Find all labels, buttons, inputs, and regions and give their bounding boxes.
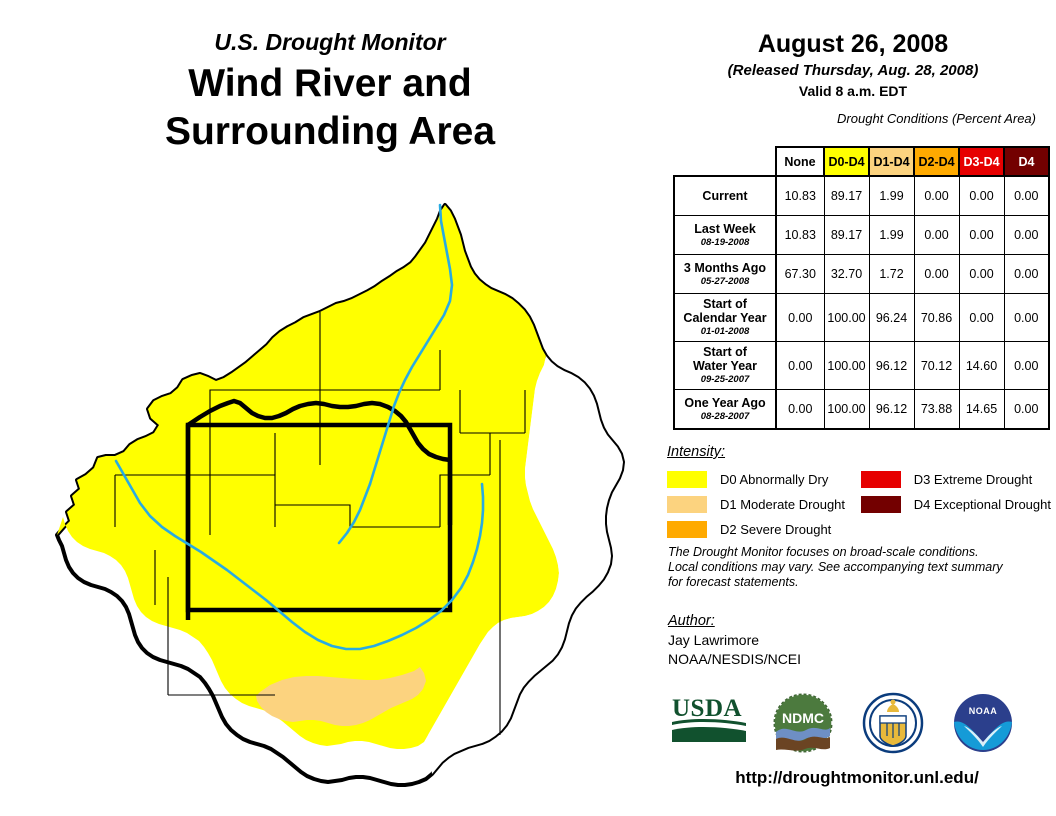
row-name: Current	[677, 189, 773, 203]
cell-d3-d4: 0.00	[959, 294, 1004, 342]
row-label-start-of-calendar-year: Start of Calendar Year 01-01-2008	[674, 294, 776, 342]
cell-d0-d4: 89.17	[824, 216, 869, 255]
intensity-legend-title: Intensity:	[667, 444, 1051, 460]
cell-d1-d4: 96.24	[869, 294, 914, 342]
valid-time: Valid 8 a.m. EDT	[662, 82, 1044, 101]
row-label-current: Current	[674, 176, 776, 216]
column-header-d3-d4: D3-D4	[959, 147, 1004, 176]
row-label-one-year-ago: One Year Ago 08-28-2007	[674, 390, 776, 430]
cell-d1-d4: 1.72	[869, 255, 914, 294]
cell-none: 67.30	[776, 255, 824, 294]
legend-label: D4 Exceptional Drought	[914, 497, 1051, 512]
cell-d0-d4: 89.17	[824, 176, 869, 216]
table-row: Last Week 08-19-2008 10.83 89.17 1.99 0.…	[674, 216, 1049, 255]
legend-label: D0 Abnormally Dry	[720, 472, 828, 487]
legend-item-d1: D1 Moderate Drought	[667, 492, 861, 517]
d4-color-swatch	[861, 496, 901, 513]
website-url[interactable]: http://droughtmonitor.unl.edu/	[662, 768, 1052, 788]
row-name-line1: Start of	[677, 345, 773, 359]
cell-d2-d4: 70.12	[914, 342, 959, 390]
column-header-none: None	[776, 147, 824, 176]
drought-monitor-page: U.S. Drought Monitor Wind River and Surr…	[0, 0, 1056, 816]
program-label: U.S. Drought Monitor	[0, 28, 660, 56]
cell-d4: 0.00	[1004, 255, 1049, 294]
legend-label: D2 Severe Drought	[720, 522, 831, 537]
map-date: August 26, 2008	[662, 30, 1044, 59]
legend-label: D1 Moderate Drought	[720, 497, 845, 512]
row-date: 08-28-2007	[677, 411, 773, 423]
d1-color-swatch	[667, 496, 707, 513]
row-name: 3 Months Ago	[677, 261, 773, 275]
author-affiliation: NOAA/NESDIS/NCEI	[668, 650, 968, 669]
table-corner-blank	[674, 147, 776, 176]
row-name: One Year Ago	[677, 396, 773, 410]
cell-d0-d4: 100.00	[824, 342, 869, 390]
cell-d1-d4: 1.99	[869, 176, 914, 216]
disclaimer-line2: Local conditions may vary. See accompany…	[668, 560, 1038, 575]
cell-d3-d4: 0.00	[959, 176, 1004, 216]
table-row: One Year Ago 08-28-2007 0.00 100.00 96.1…	[674, 390, 1049, 430]
table-row: 3 Months Ago 05-27-2008 67.30 32.70 1.72…	[674, 255, 1049, 294]
cell-d0-d4: 100.00	[824, 390, 869, 430]
cell-d4: 0.00	[1004, 294, 1049, 342]
cell-d4: 0.00	[1004, 176, 1049, 216]
cell-d2-d4: 70.86	[914, 294, 959, 342]
date-block: August 26, 2008 (Released Thursday, Aug.…	[662, 0, 1044, 101]
cell-none: 0.00	[776, 342, 824, 390]
author-title: Author:	[668, 612, 968, 631]
row-label-start-of-water-year: Start of Water Year 09-25-2007	[674, 342, 776, 390]
page-title-line2: Surrounding Area	[0, 108, 660, 156]
cell-none: 0.00	[776, 390, 824, 430]
cell-d1-d4: 96.12	[869, 342, 914, 390]
table-row: Start of Calendar Year 01-01-2008 0.00 1…	[674, 294, 1049, 342]
cell-d1-d4: 96.12	[869, 390, 914, 430]
noaa-logo: NOAA	[952, 692, 1014, 759]
author-name: Jay Lawrimore	[668, 631, 968, 650]
cell-d3-d4: 14.60	[959, 342, 1004, 390]
legend-column-left: D0 Abnormally Dry D1 Moderate Drought D2…	[667, 467, 861, 542]
row-date: 05-27-2008	[677, 276, 773, 288]
cell-d0-d4: 32.70	[824, 255, 869, 294]
right-panel: August 26, 2008 (Released Thursday, Aug.…	[662, 0, 1056, 816]
row-name-line2: Calendar Year	[677, 311, 773, 325]
table-caption: Drought Conditions (Percent Area)	[662, 111, 1036, 126]
legend-item-d2: D2 Severe Drought	[667, 517, 861, 542]
d0-color-swatch	[667, 471, 707, 488]
cell-none: 10.83	[776, 216, 824, 255]
row-name-line1: Start of	[677, 297, 773, 311]
page-title: Wind River and Surrounding Area	[0, 60, 660, 156]
svg-text:NOAA: NOAA	[969, 706, 998, 716]
column-header-d1-d4: D1-D4	[869, 147, 914, 176]
row-date: 01-01-2008	[677, 326, 773, 338]
row-label-3-months-ago: 3 Months Ago 05-27-2008	[674, 255, 776, 294]
cell-d2-d4: 0.00	[914, 255, 959, 294]
drought-conditions-table: None D0-D4 D1-D4 D2-D4 D3-D4 D4 Current …	[673, 146, 1050, 430]
release-date: (Released Thursday, Aug. 28, 2008)	[662, 61, 1044, 81]
svg-text:USDA: USDA	[672, 695, 742, 722]
column-header-d2-d4: D2-D4	[914, 147, 959, 176]
legend-item-d4: D4 Exceptional Drought	[861, 492, 1051, 517]
cell-none: 10.83	[776, 176, 824, 216]
legend-item-d0: D0 Abnormally Dry	[667, 467, 861, 492]
title-block: U.S. Drought Monitor Wind River and Surr…	[0, 28, 660, 156]
cell-d0-d4: 100.00	[824, 294, 869, 342]
row-label-last-week: Last Week 08-19-2008	[674, 216, 776, 255]
usda-logo: USDA	[670, 692, 750, 753]
drought-map	[20, 175, 660, 795]
column-header-d4: D4	[1004, 147, 1049, 176]
cell-d3-d4: 14.65	[959, 390, 1004, 430]
cell-d4: 0.00	[1004, 216, 1049, 255]
cell-d2-d4: 0.00	[914, 176, 959, 216]
table-row: Start of Water Year 09-25-2007 0.00 100.…	[674, 342, 1049, 390]
author-block: Author: Jay Lawrimore NOAA/NESDIS/NCEI	[668, 612, 968, 669]
legend-column-right: D3 Extreme Drought D4 Exceptional Drough…	[861, 467, 1051, 542]
partner-logos: USDA NDMC	[662, 692, 1056, 762]
d3-color-swatch	[861, 471, 901, 488]
legend-label: D3 Extreme Drought	[914, 472, 1033, 487]
legend-item-d3: D3 Extreme Drought	[861, 467, 1051, 492]
svg-text:NDMC: NDMC	[782, 710, 824, 726]
disclaimer-line3: for forecast statements.	[668, 575, 1038, 590]
table-header-row: None D0-D4 D1-D4 D2-D4 D3-D4 D4	[674, 147, 1049, 176]
row-date: 08-19-2008	[677, 237, 773, 249]
cell-d1-d4: 1.99	[869, 216, 914, 255]
cell-d4: 0.00	[1004, 342, 1049, 390]
disclaimer-line1: The Drought Monitor focuses on broad-sca…	[668, 545, 1038, 560]
cell-d3-d4: 0.00	[959, 216, 1004, 255]
row-name: Last Week	[677, 222, 773, 236]
row-date: 09-25-2007	[677, 374, 773, 386]
page-title-line1: Wind River and	[0, 60, 660, 108]
cell-d2-d4: 73.88	[914, 390, 959, 430]
row-name-line2: Water Year	[677, 359, 773, 373]
d2-color-swatch	[667, 521, 707, 538]
disclaimer-text: The Drought Monitor focuses on broad-sca…	[668, 545, 1038, 590]
ndmc-logo: NDMC	[772, 692, 834, 759]
intensity-legend: Intensity: D0 Abnormally Dry D1 Moderate…	[667, 444, 1051, 542]
cell-none: 0.00	[776, 294, 824, 342]
cell-d4: 0.00	[1004, 390, 1049, 430]
cell-d3-d4: 0.00	[959, 255, 1004, 294]
cell-d2-d4: 0.00	[914, 216, 959, 255]
commerce-seal-logo	[862, 692, 924, 759]
column-header-d0-d4: D0-D4	[824, 147, 869, 176]
table-row: Current 10.83 89.17 1.99 0.00 0.00 0.00	[674, 176, 1049, 216]
